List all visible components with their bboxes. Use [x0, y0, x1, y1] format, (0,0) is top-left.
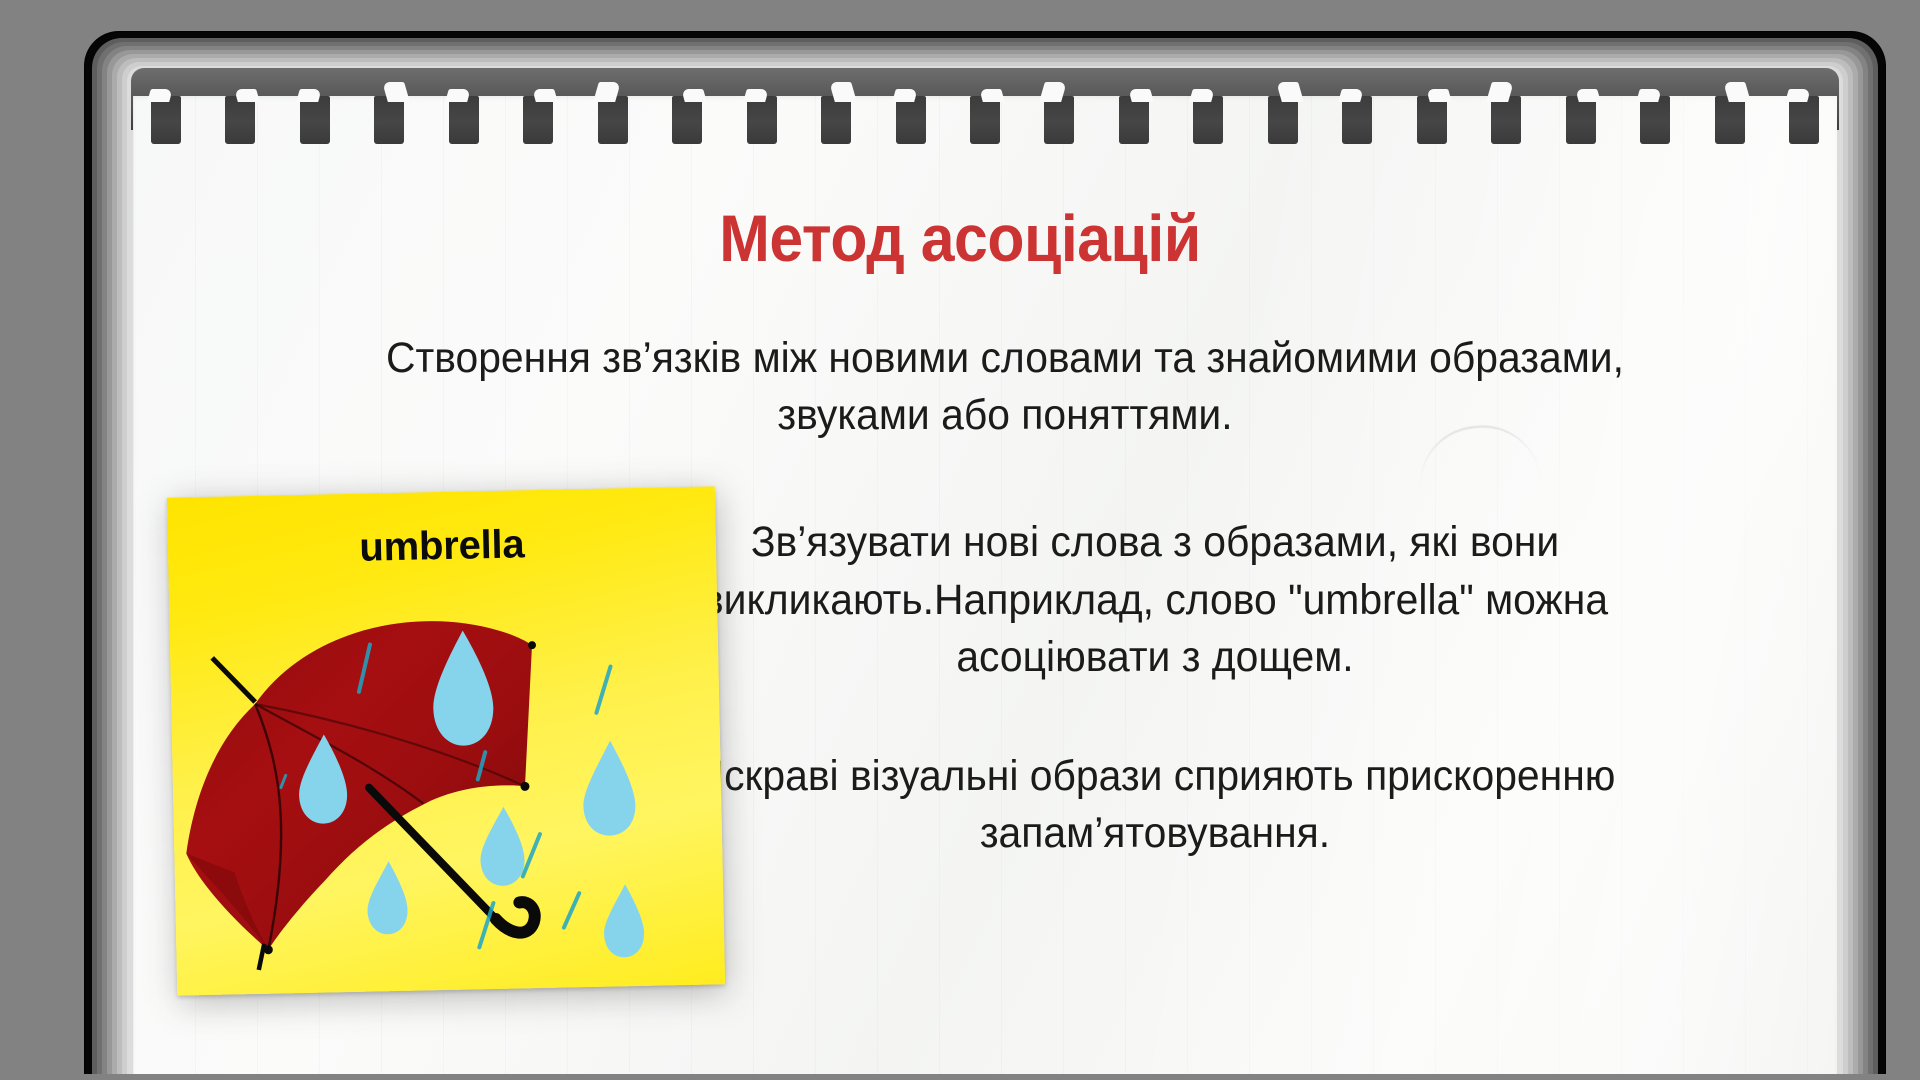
- spiral-hole: [1566, 96, 1596, 144]
- spiral-hole: [747, 96, 777, 144]
- spiral-hole: [1044, 96, 1074, 144]
- spiral-hole: [672, 96, 702, 144]
- raindrop: [367, 861, 409, 935]
- raindrop: [479, 806, 525, 886]
- spiral-hole: [821, 96, 851, 144]
- presentation-slide: Метод асоціацій Створення зв’язків між н…: [0, 0, 1920, 1080]
- spiral-hole: [1268, 96, 1298, 144]
- raindrop: [582, 740, 636, 836]
- spiral-hole: [1193, 96, 1223, 144]
- spiral-hole: [1417, 96, 1447, 144]
- slide-title: Метод асоціацій: [77, 200, 1843, 276]
- slide-bottom-edge: [0, 1074, 1920, 1080]
- rain-streak: [595, 667, 611, 713]
- spiral-hole: [1491, 96, 1521, 144]
- paragraph-3: Яскраві візуальні образи сприяють приско…: [666, 748, 1645, 862]
- spiral-hole: [449, 96, 479, 144]
- paragraph-1: Створення зв’язків між новими словами та…: [373, 330, 1637, 444]
- sticky-note: umbrella: [167, 486, 725, 995]
- spiral-hole: [374, 96, 404, 144]
- umbrella-finial: [212, 657, 255, 703]
- spiral-hole: [1342, 96, 1372, 144]
- spiral-hole: [896, 96, 926, 144]
- umbrella-handle: [495, 902, 535, 933]
- umbrella-rib-tip-spike: [258, 944, 265, 970]
- spiral-hole: [1715, 96, 1745, 144]
- umbrella-illustration: [168, 542, 725, 995]
- spiral-hole: [1640, 96, 1670, 144]
- spiral-hole: [151, 96, 181, 144]
- rain-streak: [563, 893, 580, 927]
- spiral-hole: [970, 96, 1000, 144]
- spiral-hole: [523, 96, 553, 144]
- rain-streak: [522, 834, 541, 876]
- spiral-hole: [225, 96, 255, 144]
- paragraph-2: Зв’язувати нові слова з образами, які во…: [666, 514, 1645, 686]
- spiral-hole-row: [133, 96, 1837, 154]
- spiral-hole: [1119, 96, 1149, 144]
- raindrop: [603, 884, 645, 958]
- spiral-hole: [300, 96, 330, 144]
- spiral-hole: [598, 96, 628, 144]
- umbrella-svg: [168, 542, 725, 995]
- spiral-hole: [1789, 96, 1819, 144]
